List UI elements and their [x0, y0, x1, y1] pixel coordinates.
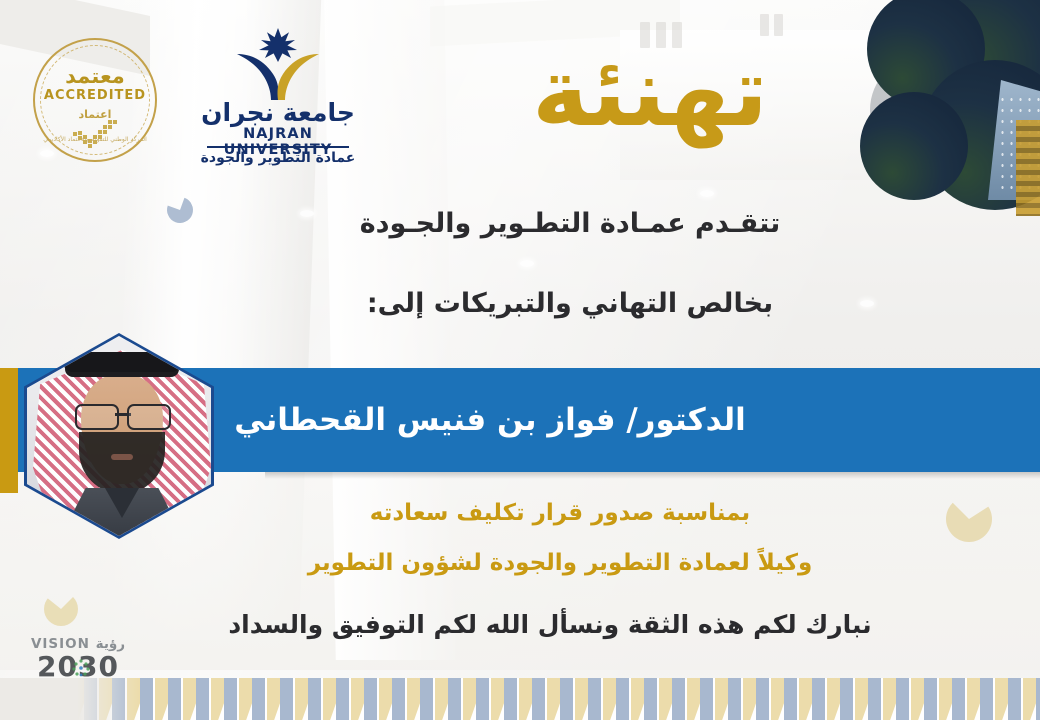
- pattern-shape-cream: [379, 678, 392, 720]
- glasses-lens-left: [75, 404, 119, 430]
- pattern-shape-cream: [715, 678, 728, 720]
- closing-line: نبارك لكم هذه الثقة ونسأل الله لكم التوف…: [170, 610, 930, 639]
- pattern-shape-cream: [883, 678, 896, 720]
- v-swoosh-icon: [235, 52, 321, 102]
- pattern-shape-cream: [351, 678, 364, 720]
- pattern-unit: [784, 678, 812, 720]
- pattern-unit: [616, 678, 644, 720]
- pattern-unit: [700, 678, 728, 720]
- pattern-unit: [1036, 678, 1040, 720]
- pattern-shape-cream: [547, 678, 560, 720]
- pattern-unit: [392, 678, 420, 720]
- pattern-shape-blue: [420, 678, 433, 720]
- pattern-shape-blue: [308, 678, 321, 720]
- page-title-calligraphy: تهنئة: [520, 32, 780, 162]
- pattern-unit: [588, 678, 616, 720]
- bottom-decorative-pattern: [0, 678, 1040, 720]
- pattern-shape-blue: [1036, 678, 1040, 720]
- avatar-inner: [27, 336, 211, 536]
- pattern-shape-cream: [827, 678, 840, 720]
- pattern-unit: [308, 678, 336, 720]
- congratulation-poster: معتمد ACCREDITED اعتماد المركز الوطني لل…: [0, 0, 1040, 720]
- pattern-unit: [644, 678, 672, 720]
- pattern-unit: [224, 678, 252, 720]
- pattern-shape-blue: [504, 678, 517, 720]
- pattern-shape-blue: [616, 678, 629, 720]
- pattern-unit: [756, 678, 784, 720]
- occasion-line-2: وكيلاً لعمادة التطوير والجودة لشؤون التط…: [210, 550, 910, 576]
- pattern-shape-blue: [280, 678, 293, 720]
- pattern-unit: [448, 678, 476, 720]
- pattern-shape-blue: [868, 678, 881, 720]
- pattern-shape-cream: [435, 678, 448, 720]
- pattern-shape-blue: [252, 678, 265, 720]
- intro-line-2: بخالص التهاني والتبريكات إلى:: [220, 288, 920, 319]
- pattern-shape-blue: [448, 678, 461, 720]
- pattern-unit: [504, 678, 532, 720]
- intro-line-1: تتقـدم عمـادة التطـوير والجـودة: [220, 208, 920, 239]
- pattern-unit: [168, 678, 196, 720]
- honoree-name: الدكتور/ فواز بن فنيس القحطاني: [234, 402, 806, 438]
- pattern-unit: [672, 678, 700, 720]
- pattern-unit: [280, 678, 308, 720]
- badge-arabic-label: معتمد: [33, 64, 157, 88]
- pattern-unit: [420, 678, 448, 720]
- pattern-shape-cream: [855, 678, 868, 720]
- pattern-shape-blue: [756, 678, 769, 720]
- pattern-shape-cream: [743, 678, 756, 720]
- pattern-shape-blue: [924, 678, 937, 720]
- avatar: [24, 333, 214, 539]
- pattern-shape-cream: [407, 678, 420, 720]
- logo-deanship: عمادة التطوير والجودة: [193, 150, 363, 166]
- ceiling-light: [520, 260, 534, 267]
- pattern-shape-blue: [784, 678, 797, 720]
- pattern-shape-cream: [267, 678, 280, 720]
- glasses-icon: [75, 404, 171, 426]
- pattern-shape-cream: [491, 678, 504, 720]
- pattern-shape-cream: [603, 678, 616, 720]
- pattern-shape-cream: [995, 678, 1008, 720]
- pattern-unit: [196, 678, 224, 720]
- pattern-unit: [532, 678, 560, 720]
- pattern-shape-blue: [644, 678, 657, 720]
- pattern-shape-cream: [519, 678, 532, 720]
- pattern-shape-blue: [700, 678, 713, 720]
- gold-edge-accent: [1016, 120, 1040, 216]
- pattern-shape-cream: [575, 678, 588, 720]
- pattern-shape-blue: [672, 678, 685, 720]
- mouth-shape: [111, 454, 133, 460]
- pattern-shape-cream: [771, 678, 784, 720]
- pattern-shape-blue: [560, 678, 573, 720]
- logo-arabic-name: جامعة نجران: [193, 100, 363, 125]
- pattern-unit: [364, 678, 392, 720]
- pattern-shape-blue: [728, 678, 741, 720]
- check-mark-icon: [67, 112, 123, 152]
- gold-vertical-accent: [0, 368, 18, 493]
- pattern-unit: [812, 678, 840, 720]
- glasses-lens-right: [127, 404, 171, 430]
- occasion-line-1: بمناسبة صدور قرار تكليف سعادته: [210, 500, 910, 526]
- pattern-shape-cream: [687, 678, 700, 720]
- banner-shadow: [265, 472, 1040, 479]
- pattern-left-fade: [0, 678, 140, 720]
- pattern-shape-cream: [911, 678, 924, 720]
- najran-university-logo: جامعة نجران NAJRAN UNIVERSITY عمادة التط…: [193, 28, 363, 168]
- pattern-shape-blue: [140, 678, 153, 720]
- vision-emblem-icon: [70, 657, 92, 679]
- pattern-unit: [476, 678, 504, 720]
- badge-authority-line: المركز الوطني للتقويم والاعتماد الأكاديم…: [33, 136, 157, 143]
- pattern-shape-blue: [336, 678, 349, 720]
- pattern-shape-cream: [659, 678, 672, 720]
- pattern-shape-cream: [323, 678, 336, 720]
- pattern-shape-blue: [196, 678, 209, 720]
- pattern-shape-blue: [952, 678, 965, 720]
- pattern-unit: [560, 678, 588, 720]
- pattern-shape-cream: [155, 678, 168, 720]
- pattern-shape-blue: [392, 678, 405, 720]
- pattern-unit: [1008, 678, 1036, 720]
- pattern-unit: [952, 678, 980, 720]
- pattern-shape-blue: [476, 678, 489, 720]
- pattern-shape-blue: [980, 678, 993, 720]
- pattern-shape-cream: [239, 678, 252, 720]
- pattern-unit: [924, 678, 952, 720]
- pattern-unit: [840, 678, 868, 720]
- pattern-shape-blue: [896, 678, 909, 720]
- corner-lobe: [860, 92, 968, 200]
- pattern-shape-blue: [532, 678, 545, 720]
- pattern-shape-cream: [1023, 678, 1036, 720]
- pattern-unit: [896, 678, 924, 720]
- pattern-shape-blue: [812, 678, 825, 720]
- pattern-unit: [336, 678, 364, 720]
- logo-divider: [207, 146, 349, 148]
- pattern-shape-blue: [588, 678, 601, 720]
- pattern-shape-blue: [364, 678, 377, 720]
- pattern-shape-blue: [1008, 678, 1021, 720]
- pattern-shape-blue: [840, 678, 853, 720]
- corner-photo-cluster: [865, 0, 1040, 215]
- pattern-unit: [252, 678, 280, 720]
- badge-english-label: ACCREDITED: [33, 88, 157, 103]
- pattern-shape-cream: [295, 678, 308, 720]
- pattern-shape-cream: [211, 678, 224, 720]
- pattern-shape-cream: [799, 678, 812, 720]
- pattern-unit: [140, 678, 168, 720]
- pattern-unit: [728, 678, 756, 720]
- avatar-photo: [27, 336, 211, 536]
- accreditation-badge: معتمد ACCREDITED اعتماد المركز الوطني لل…: [33, 38, 157, 162]
- pattern-unit: [980, 678, 1008, 720]
- pattern-shape-cream: [967, 678, 980, 720]
- pattern-shape-blue: [168, 678, 181, 720]
- pattern-unit: [868, 678, 896, 720]
- pattern-shape-blue: [224, 678, 237, 720]
- pattern-shape-cream: [463, 678, 476, 720]
- pattern-shape-cream: [183, 678, 196, 720]
- pattern-shape-cream: [631, 678, 644, 720]
- pattern-shape-cream: [939, 678, 952, 720]
- ceiling-light: [700, 190, 714, 197]
